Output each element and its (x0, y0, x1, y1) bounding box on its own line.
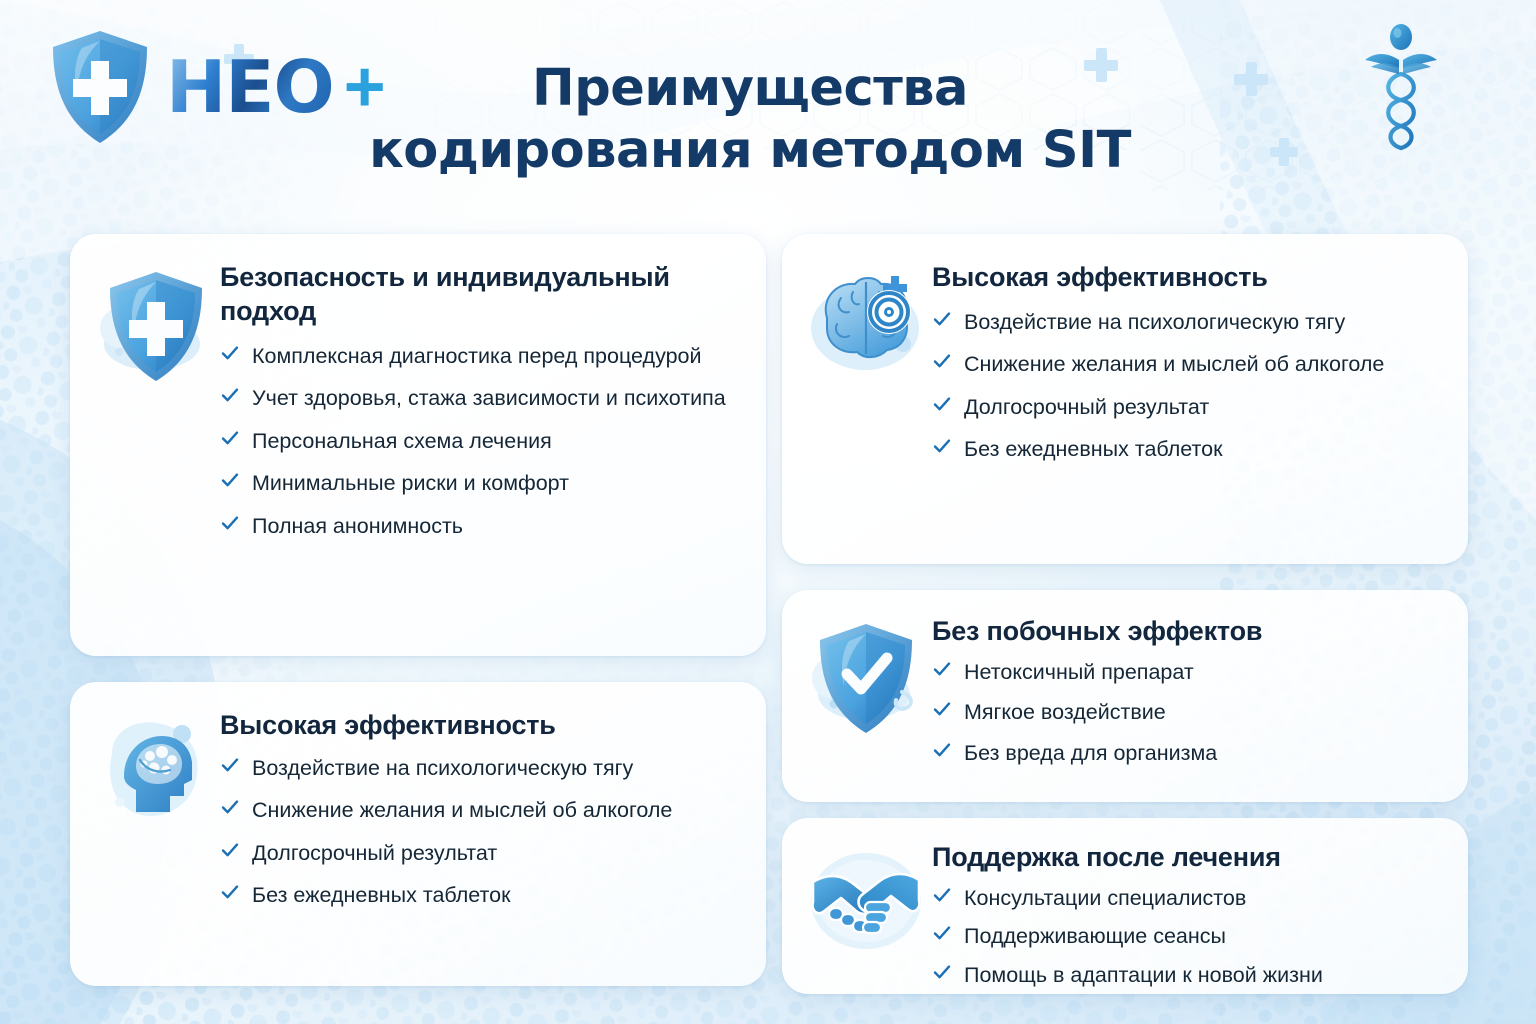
page-header: НЕО + Преимущества кодирования методом S… (0, 0, 1536, 215)
head-brain-icon (96, 714, 212, 830)
check-icon (932, 394, 952, 420)
handshake-icon (807, 846, 925, 956)
benefit-list: Воздействие на психологическую тягу Сниж… (220, 754, 740, 910)
page-title-line-2: кодирования методом SIT (300, 120, 1200, 182)
list-item-label: Снижение желания и мыслей об алкоголе (964, 350, 1442, 378)
list-item-label: Снижение желания и мыслей об алкоголе (252, 796, 740, 824)
check-icon (932, 309, 952, 335)
list-item-label: Поддерживающие сеансы (964, 922, 1442, 950)
card-content: Без побочных эффектов Нетоксичный препар… (928, 614, 1442, 780)
check-icon (220, 428, 240, 454)
check-icon (932, 962, 952, 988)
check-icon (220, 840, 240, 866)
check-icon (220, 755, 240, 781)
list-item-label: Учет здоровья, стажа зависимости и психо… (252, 384, 740, 412)
list-item-label: Мягкое воздействие (964, 698, 1442, 726)
card-safety: Безопасность и индивидуальный подход Ком… (70, 234, 766, 656)
card-title: Безопасность и индивидуальный подход (220, 260, 740, 328)
list-item-label: Комплексная диагностика перед процедурой (252, 342, 740, 370)
list-item: Долгосрочный результат (932, 393, 1442, 421)
check-icon (932, 740, 952, 766)
shield-check-icon (810, 620, 922, 736)
card-title: Высокая эффективность (932, 260, 1442, 294)
card-no-side-effects: Без побочных эффектов Нетоксичный препар… (782, 590, 1468, 802)
list-item-label: Минимальные риски и комфорт (252, 469, 740, 497)
list-item-label: Долгосрочный результат (964, 393, 1442, 421)
benefit-list: Комплексная диагностика перед процедурой… (220, 342, 740, 540)
list-item: Полная анонимность (220, 512, 740, 540)
list-item: Поддерживающие сеансы (932, 922, 1442, 950)
check-icon (932, 436, 952, 462)
check-icon (220, 882, 240, 908)
card-high-efficiency-left: Высокая эффективность Воздействие на пси… (70, 682, 766, 986)
check-icon (932, 885, 952, 911)
check-icon (932, 699, 952, 725)
list-item: Персональная схема лечения (220, 427, 740, 455)
list-item-label: Нетоксичный препарат (964, 658, 1442, 686)
list-item-label: Долгосрочный результат (252, 839, 740, 867)
list-item-label: Без вреда для организма (964, 739, 1442, 767)
card-aftercare-support: Поддержка после лечения Консультации спе… (782, 818, 1468, 994)
list-item: Нетоксичный препарат (932, 658, 1442, 686)
card-title: Без побочных эффектов (932, 614, 1442, 648)
list-item: Учет здоровья, стажа зависимости и психо… (220, 384, 740, 412)
page-title-line-1: Преимущества (300, 58, 1200, 120)
card-content: Высокая эффективность Воздействие на пси… (928, 260, 1442, 542)
check-icon (220, 385, 240, 411)
list-item: Долгосрочный результат (220, 839, 740, 867)
card-high-efficiency-right: Высокая эффективность Воздействие на пси… (782, 234, 1468, 564)
check-icon (220, 343, 240, 369)
list-item: Помощь в адаптации к новой жизни (932, 961, 1442, 989)
check-icon (220, 470, 240, 496)
list-item-label: Помощь в адаптации к новой жизни (964, 961, 1442, 989)
caduceus-icon (1361, 22, 1441, 172)
check-icon (932, 923, 952, 949)
benefit-list: Воздействие на психологическую тягу Сниж… (932, 308, 1442, 464)
card-icon-wrap (804, 260, 928, 542)
shield-cross-icon (98, 266, 210, 384)
list-item: Без вреда для организма (932, 739, 1442, 767)
check-icon (932, 659, 952, 685)
list-item: Без ежедневных таблеток (220, 881, 740, 909)
benefit-list: Нетоксичный препарат Мягкое воздействие … (932, 658, 1442, 767)
card-content: Высокая эффективность Воздействие на пси… (216, 708, 740, 964)
card-title: Высокая эффективность (220, 708, 740, 742)
card-icon-wrap (92, 708, 216, 964)
list-item: Минимальные риски и комфорт (220, 469, 740, 497)
card-content: Безопасность и индивидуальный подход Ком… (216, 260, 740, 634)
list-item-label: Воздействие на психологическую тягу (964, 308, 1442, 336)
card-icon-wrap (92, 260, 216, 634)
list-item-label: Без ежедневных таблеток (964, 435, 1442, 463)
card-content: Поддержка после лечения Консультации спе… (928, 840, 1442, 978)
card-icon-wrap (804, 614, 928, 780)
page-title: Преимущества кодирования методом SIT (300, 58, 1200, 182)
list-item: Снижение желания и мыслей об алкоголе (932, 350, 1442, 378)
card-title: Поддержка после лечения (932, 840, 1442, 874)
check-icon (220, 797, 240, 823)
list-item: Комплексная диагностика перед процедурой (220, 342, 740, 370)
list-item-label: Воздействие на психологическую тягу (252, 754, 740, 782)
check-icon (220, 513, 240, 539)
brain-target-icon (807, 266, 925, 378)
shield-cross-icon (48, 28, 152, 146)
list-item: Мягкое воздействие (932, 698, 1442, 726)
list-item-label: Полная анонимность (252, 512, 740, 540)
list-item-label: Консультации специалистов (964, 884, 1442, 912)
card-icon-wrap (804, 840, 928, 978)
list-item: Снижение желания и мыслей об алкоголе (220, 796, 740, 824)
list-item-label: Персональная схема лечения (252, 427, 740, 455)
list-item: Без ежедневных таблеток (932, 435, 1442, 463)
list-item: Воздействие на психологическую тягу (220, 754, 740, 782)
list-item: Консультации специалистов (932, 884, 1442, 912)
check-icon (932, 351, 952, 377)
benefit-list: Консультации специалистов Поддерживающие… (932, 884, 1442, 989)
list-item-label: Без ежедневных таблеток (252, 881, 740, 909)
list-item: Воздействие на психологическую тягу (932, 308, 1442, 336)
